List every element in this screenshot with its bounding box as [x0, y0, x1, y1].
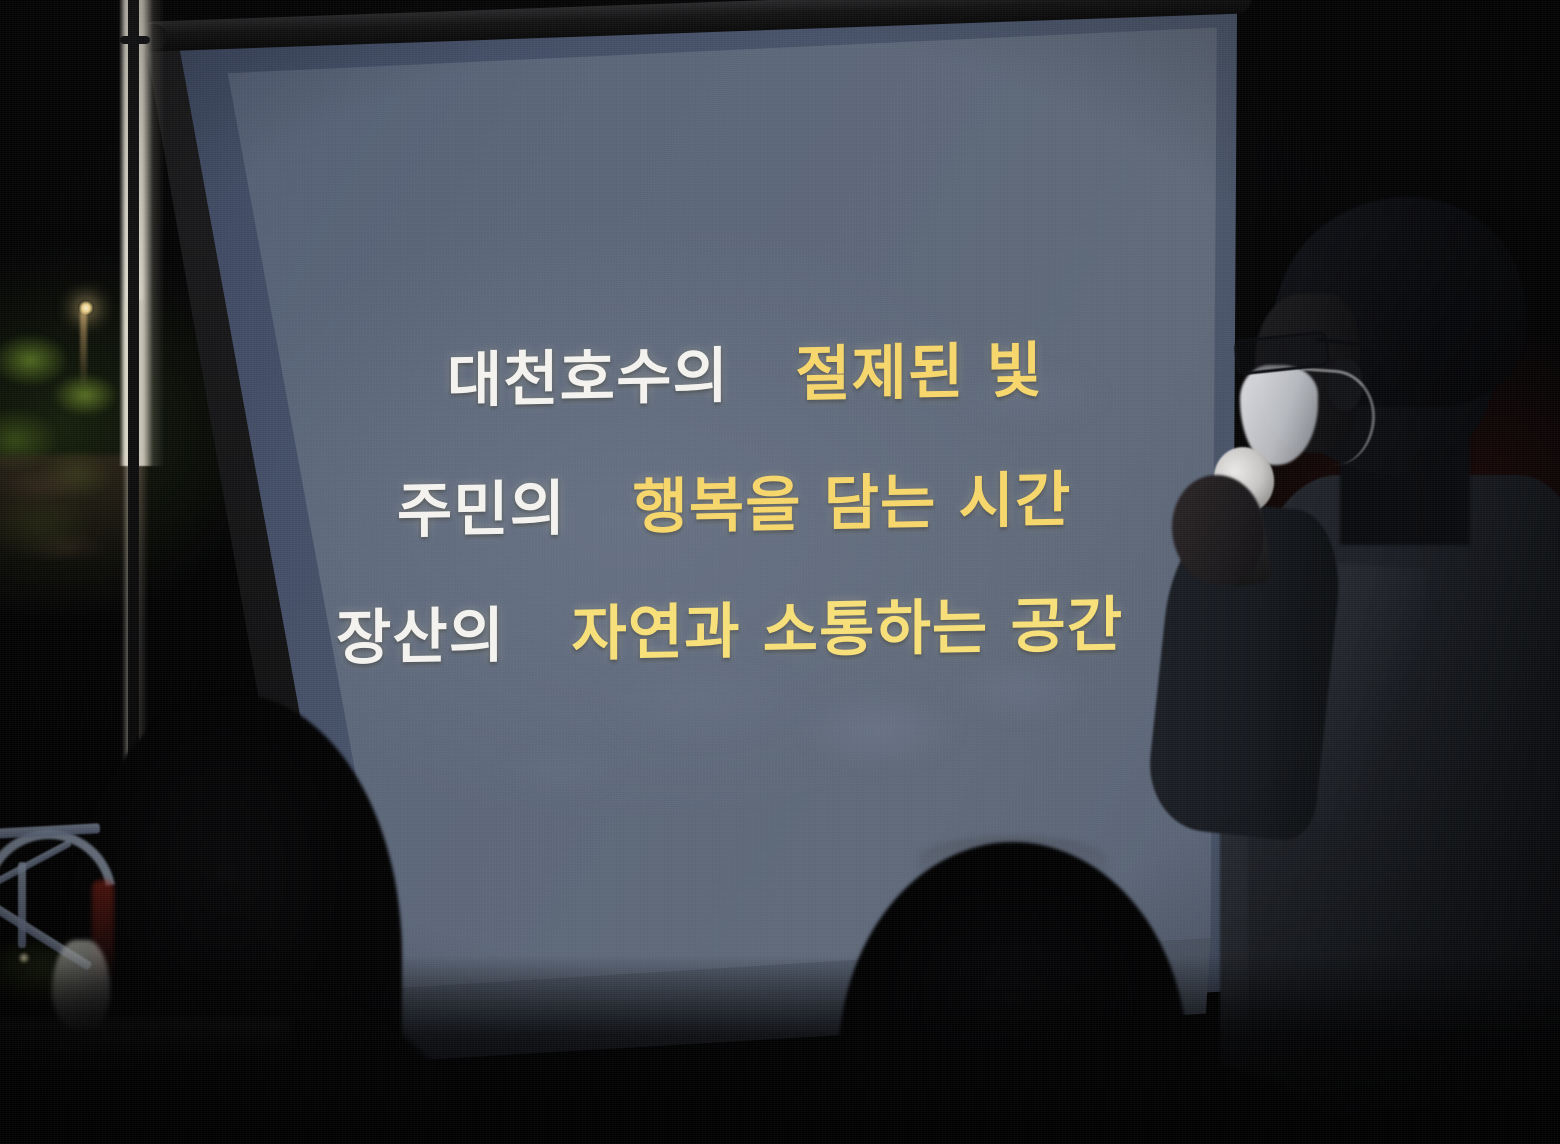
night-presentation-scene: 대천호수의 절제된 빛 주민의 행복을 담는 시간 장산의 자연과 소통하는 공… [0, 0, 1560, 1144]
railing-post [18, 862, 26, 948]
pole-joint-bracket [120, 36, 150, 44]
bottom-shadow-gradient [0, 955, 1560, 1144]
presenter-hand [1172, 475, 1264, 585]
